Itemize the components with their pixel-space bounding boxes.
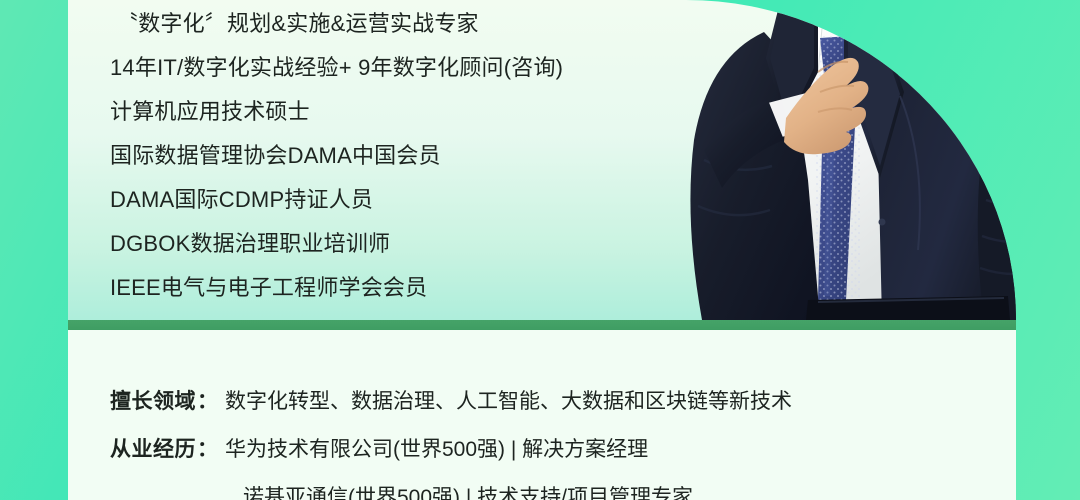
- experience-value: 华为技术有限公司(世界500强) | 解决方案经理: [225, 426, 648, 474]
- experience-panel: 擅长领域 ： 数字化转型、数据治理、人工智能、大数据和区块链等新技术 从业经历 …: [68, 330, 1016, 500]
- slide-page: 〝数字化〞规划&实施&运营实战专家 14年IT/数字化实战经验+ 9年数字化顾问…: [0, 0, 1080, 500]
- experience-rows: 擅长领域 ： 数字化转型、数据治理、人工智能、大数据和区块链等新技术 从业经历 …: [110, 378, 1010, 500]
- credential-line: 〝数字化〞规划&实施&运营实战专家: [110, 2, 670, 46]
- expertise-value: 数字化转型、数据治理、人工智能、大数据和区块链等新技术: [225, 378, 792, 426]
- table-row: 擅长领域 ： 数字化转型、数据治理、人工智能、大数据和区块链等新技术: [110, 378, 1010, 426]
- credentials-panel: 〝数字化〞规划&实施&运营实战专家 14年IT/数字化实战经验+ 9年数字化顾问…: [68, 0, 1016, 320]
- expertise-colon: ：: [196, 378, 225, 426]
- experience-value-continued: 诺基亚通信(世界500强) | 技术支持/项目管理专家: [243, 474, 693, 500]
- experience-label: 从业经历: [110, 426, 196, 474]
- table-row: 诺基亚通信(世界500强) | 技术支持/项目管理专家: [110, 474, 1010, 500]
- section-divider: [68, 320, 1016, 330]
- presenter-photo: [668, 0, 1016, 320]
- presenter-photo-graphic: [668, 0, 1016, 320]
- credential-line: 14年IT/数字化实战经验+ 9年数字化顾问(咨询): [110, 46, 670, 90]
- credential-line: IEEE电气与电子工程师学会会员: [110, 266, 670, 310]
- credentials-list: 〝数字化〞规划&实施&运营实战专家 14年IT/数字化实战经验+ 9年数字化顾问…: [110, 2, 670, 310]
- credential-line: 国际数据管理协会DAMA中国会员: [110, 134, 670, 178]
- credential-line: DGBOK数据治理职业培训师: [110, 222, 670, 266]
- credential-line: DAMA国际CDMP持证人员: [110, 178, 670, 222]
- table-row: 从业经历 ： 华为技术有限公司(世界500强) | 解决方案经理: [110, 426, 1010, 474]
- expertise-label: 擅长领域: [110, 378, 196, 426]
- credential-line: 计算机应用技术硕士: [110, 90, 670, 134]
- experience-colon: ：: [196, 426, 225, 474]
